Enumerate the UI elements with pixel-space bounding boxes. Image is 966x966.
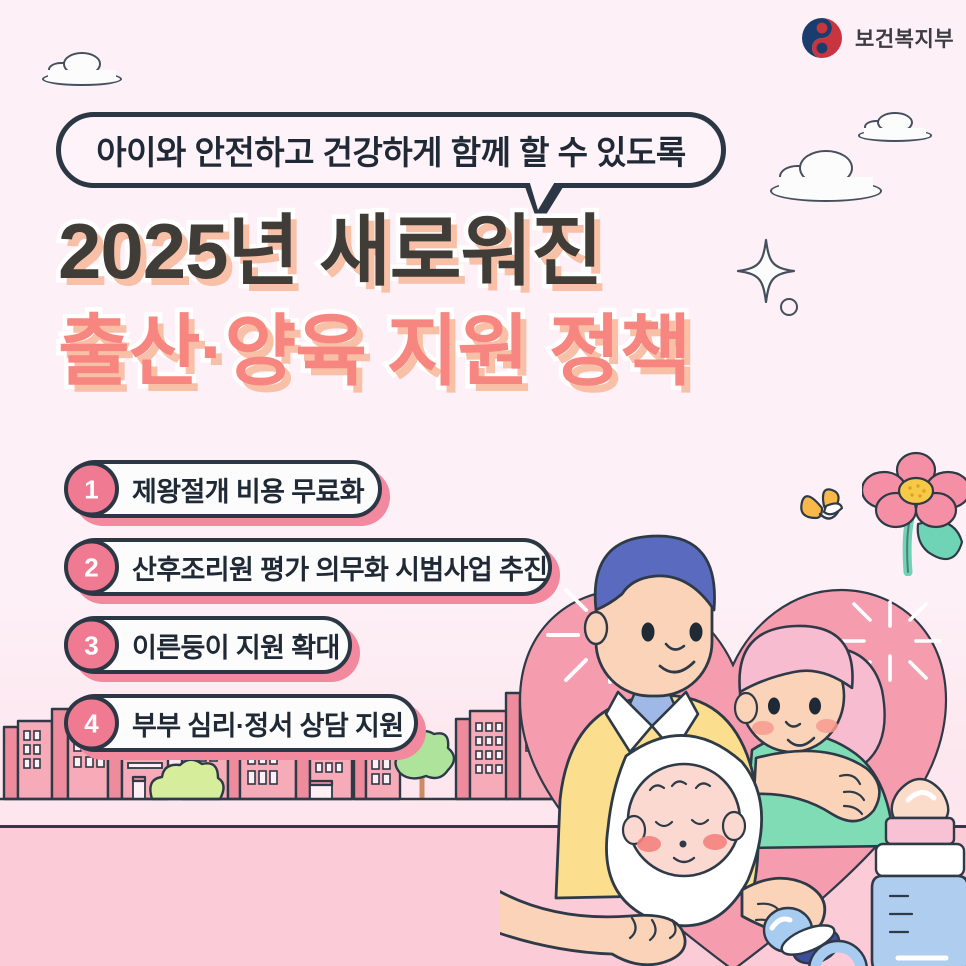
small-circle-icon (780, 298, 798, 316)
policy-item-1[interactable]: 제왕절개 비용 무료화 1 (66, 460, 382, 518)
headline-block: 2025년 새로워진 2025년 새로워진 출산·양육 지원 정책 출산·양육 … (58, 212, 690, 408)
headline-line1: 2025년 새로워진 (58, 212, 690, 292)
policy-item-4-label: 부부 심리·정서 상담 지원 (70, 704, 404, 743)
headline-line2: 출산·양육 지원 정책 (58, 312, 690, 392)
cloud-mid-right (770, 150, 882, 202)
pill-body[interactable]: 산후조리원 평가 의무화 시범사업 추진 (66, 538, 552, 596)
policy-item-2-number: 2 (84, 554, 98, 580)
policy-item-4[interactable]: 부부 심리·정서 상담 지원 4 (66, 694, 418, 752)
policy-item-2[interactable]: 산후조리원 평가 의무화 시범사업 추진 2 (66, 538, 552, 596)
policy-item-2-badge: 2 (64, 540, 119, 595)
butterfly-icon (800, 488, 848, 524)
tagline-text: 아이와 안전하고 건강하게 함께 할 수 있도록 (96, 126, 686, 174)
policy-item-1-number: 1 (84, 476, 98, 502)
policy-item-4-badge: 4 (64, 696, 119, 751)
tagline-speech-bubble: 아이와 안전하고 건강하게 함께 할 수 있도록 (56, 112, 726, 188)
sparkle-star-icon (736, 238, 796, 304)
policy-item-4-number: 4 (84, 710, 98, 736)
policy-item-3[interactable]: 이른둥이 지원 확대 3 (66, 616, 352, 674)
cloud-top-left (42, 52, 122, 86)
policy-item-3-badge: 3 (64, 618, 119, 673)
cloud-top-right (858, 112, 932, 142)
ministry-logo: 보건복지부 (800, 16, 954, 60)
flower-icon (862, 446, 966, 576)
taegeuk-icon (800, 16, 844, 60)
poster-root: 보건복지부 아이와 안전하고 건강하게 함께 할 수 있도록 2025년 새로워… (0, 0, 966, 966)
policy-item-2-label: 산후조리원 평가 의무화 시범사업 추진 (70, 548, 547, 587)
policy-item-1-badge: 1 (64, 462, 119, 517)
policy-item-3-number: 3 (84, 632, 98, 658)
ministry-logo-text: 보건복지부 (855, 23, 954, 53)
